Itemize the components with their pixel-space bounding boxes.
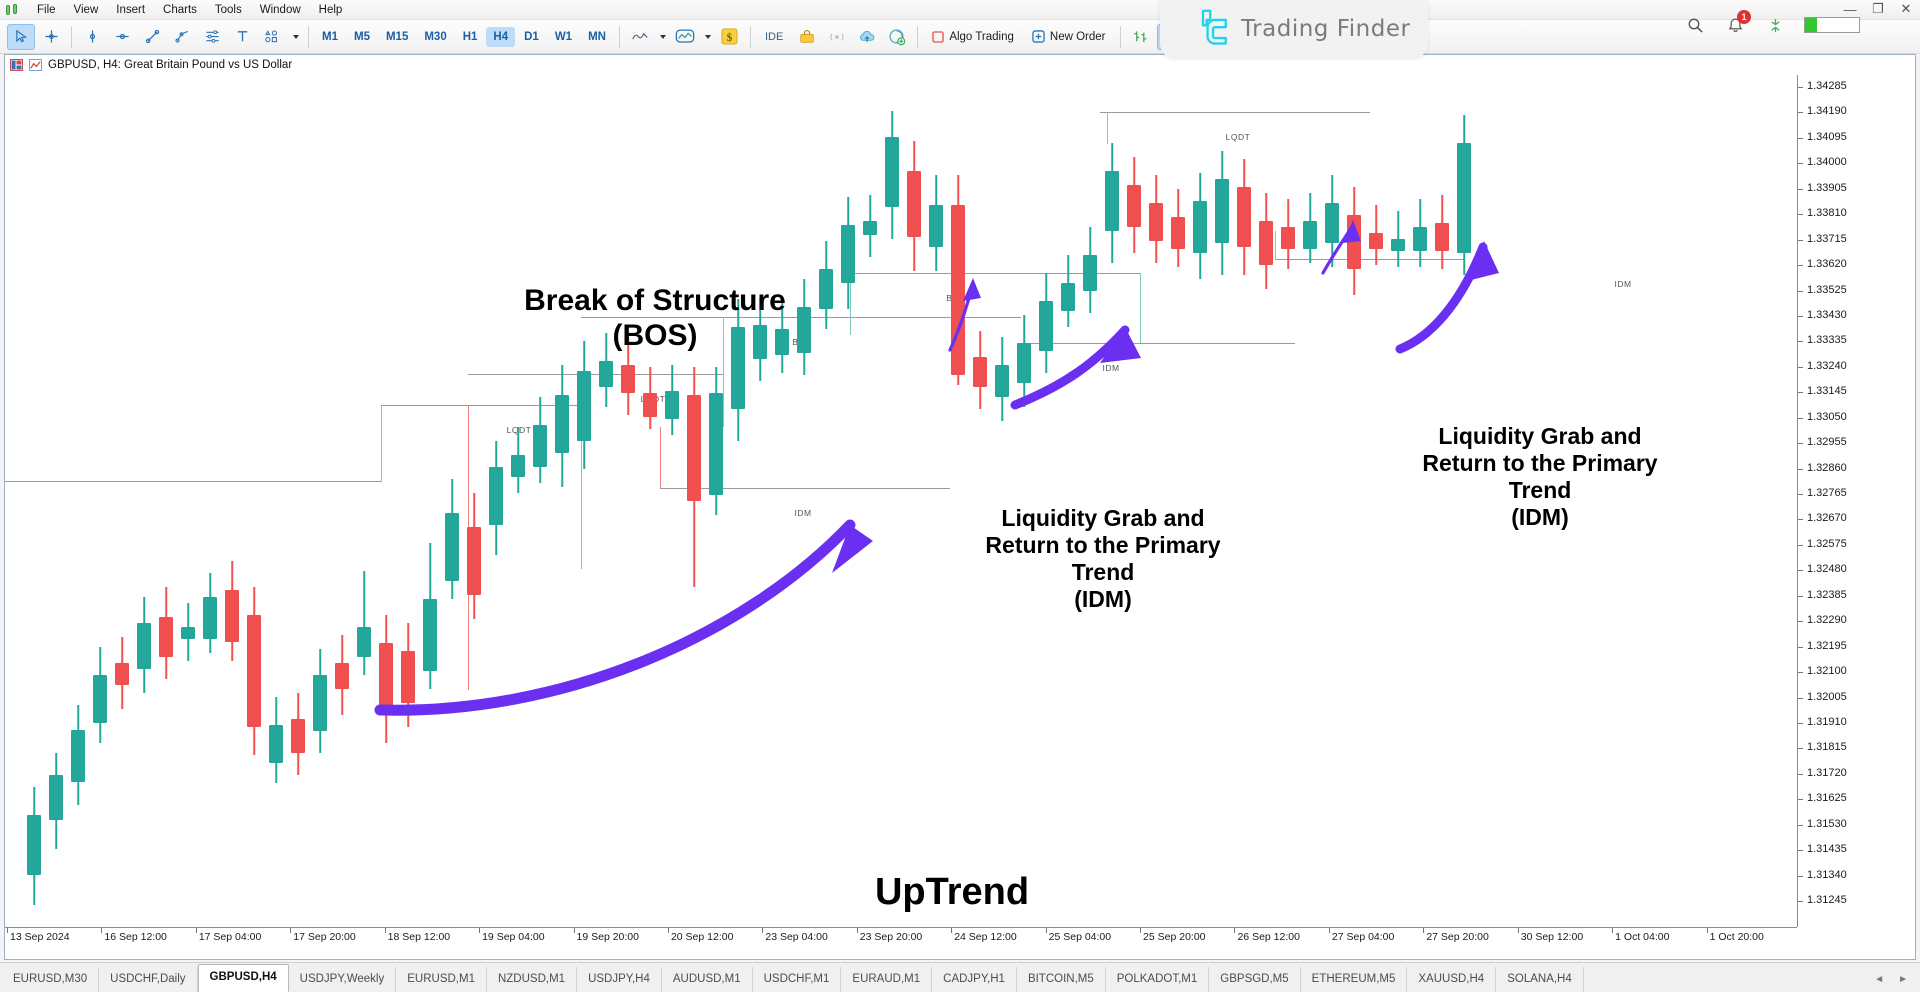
trendline-icon[interactable] [138, 24, 166, 50]
price-tick-label: 1.31625 [1807, 792, 1847, 804]
cpu-meter [1804, 17, 1860, 33]
time-tick-label: 25 Sep 20:00 [1143, 931, 1205, 943]
vertical-line-icon[interactable] [78, 24, 106, 50]
candle-body [291, 719, 305, 753]
tab-nav-prev[interactable]: ◄ [1874, 974, 1884, 985]
crosshair-icon[interactable] [37, 24, 65, 50]
price-tick-label: 1.32100 [1807, 665, 1847, 677]
candle-body [511, 455, 525, 477]
candlestick [357, 75, 371, 927]
candlestick [841, 75, 855, 927]
chart-tab-gbpusd-h4[interactable]: GBPUSD,H4 [198, 964, 289, 992]
chart-tab-eurusd-m30[interactable]: EURUSD,M30 [2, 967, 99, 992]
stop-square-icon [932, 31, 944, 43]
candle-body [1457, 143, 1471, 253]
timeframe-d1[interactable]: D1 [517, 27, 546, 47]
algo-trading-label: Algo Trading [949, 31, 1014, 43]
structure-vline [660, 427, 661, 488]
price-tick-label: 1.33525 [1807, 284, 1847, 296]
candle-body [379, 643, 393, 707]
candlestick [555, 75, 569, 927]
candle-body [819, 269, 833, 309]
candlestick [643, 75, 657, 927]
candlestick [291, 75, 305, 927]
line-chart-icon[interactable] [626, 24, 654, 50]
candle-body [1413, 227, 1427, 251]
price-tick-label: 1.31435 [1807, 843, 1847, 855]
menu-window[interactable]: Window [251, 0, 310, 20]
candlestick [1391, 75, 1405, 927]
candlestick [1149, 75, 1163, 927]
candlestick [533, 75, 547, 927]
candlestick [1215, 75, 1229, 927]
annotation-line: Return to the Primary [1422, 450, 1657, 477]
candle-body [1083, 255, 1097, 291]
candle-body [423, 599, 437, 671]
candle-body [599, 361, 613, 387]
price-tick-label: 1.33335 [1807, 334, 1847, 346]
price-tick-label: 1.32195 [1807, 640, 1847, 652]
arrow-cursor-icon[interactable] [7, 24, 35, 50]
trading-finder-logo-icon [1194, 9, 1232, 49]
candlestick [1017, 75, 1031, 927]
chart-tab-cadjpy-h1[interactable]: CADJPY,H1 [932, 967, 1017, 992]
timeframe-mn[interactable]: MN [581, 27, 613, 47]
chart-tab-eurusd-m1[interactable]: EURUSD,M1 [396, 967, 487, 992]
candlestick [335, 75, 349, 927]
candle-body [1325, 203, 1339, 243]
candle-body [203, 597, 217, 639]
price-tick-label: 1.31910 [1807, 716, 1847, 728]
candlestick [951, 75, 965, 927]
candlestick [225, 75, 239, 927]
candlestick [489, 75, 503, 927]
candlestick [929, 75, 943, 927]
candlestick [665, 75, 679, 927]
candlestick [27, 75, 41, 927]
timeframe-m15[interactable]: M15 [379, 27, 415, 47]
network-status-icon[interactable] [1764, 14, 1786, 36]
candle-body [313, 675, 327, 731]
candlestick [1303, 75, 1317, 927]
time-tick-label: 1 Oct 04:00 [1615, 931, 1669, 943]
chart-tab-usdchf-m1[interactable]: USDCHF,M1 [753, 967, 842, 992]
chart-tab-ethereum-m5[interactable]: ETHEREUM,M5 [1301, 967, 1408, 992]
indicators-icon[interactable] [671, 24, 699, 50]
candlestick [49, 75, 63, 927]
bell-icon[interactable]: 1 [1724, 14, 1746, 36]
price-tick-label: 1.32765 [1807, 487, 1847, 499]
time-tick-label: 20 Sep 12:00 [671, 931, 733, 943]
price-tick-label: 1.31530 [1807, 818, 1847, 830]
candlestick [819, 75, 833, 927]
chart-title-bar: GBPUSD, H4: Great Britain Pound vs US Do… [5, 55, 1915, 75]
time-tick-label: 16 Sep 12:00 [104, 931, 166, 943]
candle-body [93, 675, 107, 723]
horizontal-line-icon[interactable] [108, 24, 136, 50]
candle-body [1369, 233, 1383, 249]
candlestick [1237, 75, 1251, 927]
timeframe-m1[interactable]: M1 [315, 27, 345, 47]
candle-body [577, 371, 591, 441]
candle-body [1039, 301, 1053, 351]
uptrend-annotation: UpTrend [875, 870, 1029, 915]
time-tick-label: 19 Sep 04:00 [482, 931, 544, 943]
candlestick [621, 75, 635, 927]
timeframe-h1[interactable]: H1 [456, 27, 485, 47]
time-tick-label: 19 Sep 20:00 [577, 931, 639, 943]
candle-body [1259, 221, 1273, 265]
candle-body [533, 425, 547, 467]
toolbar-divider [1120, 26, 1121, 48]
time-tick-label: 25 Sep 04:00 [1049, 931, 1111, 943]
menu-file[interactable]: File [28, 0, 65, 20]
price-tick-label: 1.34095 [1807, 131, 1847, 143]
time-tick-label: 30 Sep 12:00 [1521, 931, 1583, 943]
briefcase-icon[interactable] [793, 24, 821, 50]
candlestick [423, 75, 437, 927]
indicators-dropdown-arrow[interactable] [701, 24, 714, 50]
new-order-button[interactable]: New Order [1025, 27, 1113, 46]
candle-body [995, 365, 1009, 397]
timeframe-m30[interactable]: M30 [417, 27, 453, 47]
tab-nav-next[interactable]: ► [1898, 974, 1908, 985]
chart-tab-xauusd-h4[interactable]: XAUUSD,H4 [1407, 967, 1496, 992]
candle-body [1149, 203, 1163, 241]
price-tick-label: 1.31815 [1807, 741, 1847, 753]
annotation-line: (IDM) [985, 586, 1220, 613]
candle-body [929, 205, 943, 247]
candle-body [445, 513, 459, 581]
candlestick [1171, 75, 1185, 927]
candlestick [269, 75, 283, 927]
chart-tab-usdjpy-h4[interactable]: USDJPY,H4 [577, 967, 662, 992]
structure-marker-label: IDM [1611, 279, 1634, 289]
annotation-line: Return to the Primary [985, 532, 1220, 559]
new-order-label: New Order [1050, 31, 1106, 43]
line-chart-dropdown-arrow[interactable] [656, 24, 669, 50]
candle-body [709, 393, 723, 495]
candlestick [137, 75, 151, 927]
price-tick-label: 1.33715 [1807, 233, 1847, 245]
candle-body [885, 137, 899, 207]
price-tick-label: 1.33620 [1807, 258, 1847, 270]
price-tick-label: 1.34000 [1807, 156, 1847, 168]
candlestick [181, 75, 195, 927]
candlestick [203, 75, 217, 927]
chevron-down-icon [705, 35, 711, 39]
candlestick [159, 75, 173, 927]
candle-body [1171, 217, 1185, 249]
idm-annotation-1: Liquidity Grab andReturn to the PrimaryT… [985, 505, 1220, 614]
candlestick [71, 75, 85, 927]
chart-tab-nzdusd-m1[interactable]: NZDUSD,M1 [487, 967, 577, 992]
candle-body [1061, 283, 1075, 311]
price-tick-label: 1.33240 [1807, 360, 1847, 372]
chart-tab-euraud-m1[interactable]: EURAUD,M1 [841, 967, 932, 992]
equidistant-channel-icon[interactable] [198, 24, 226, 50]
price-tick-label: 1.32385 [1807, 589, 1847, 601]
dollar-icon[interactable]: $ [716, 24, 744, 50]
candle-body [863, 221, 877, 235]
shapes-icon[interactable] [258, 24, 286, 50]
candlestick [1259, 75, 1273, 927]
annotation-line: Trend [985, 559, 1220, 586]
price-tick-label: 1.31720 [1807, 767, 1847, 779]
candlestick [379, 75, 393, 927]
candle-body [247, 615, 261, 727]
price-tick-label: 1.32005 [1807, 691, 1847, 703]
timeframe-m5[interactable]: M5 [347, 27, 377, 47]
candlestick [511, 75, 525, 927]
candlestick [577, 75, 591, 927]
chart-tab-usdjpy-weekly[interactable]: USDJPY,Weekly [289, 967, 397, 992]
candlestick [731, 75, 745, 927]
time-tick-label: 23 Sep 20:00 [860, 931, 922, 943]
search-icon[interactable] [1684, 14, 1706, 36]
menu-bar: File View Insert Charts Tools Window Hel… [0, 0, 1920, 20]
menu-view[interactable]: View [65, 0, 108, 20]
candle-body [49, 775, 63, 820]
candle-body [665, 391, 679, 419]
candlestick [247, 75, 261, 927]
candle-body [401, 651, 415, 703]
chart-plot-area[interactable]: LQDTLQDTBOSIDMBOSIDMLQDTIDM [5, 75, 1797, 927]
candlestick [445, 75, 459, 927]
toolbar-divider [71, 26, 72, 48]
candlestick [907, 75, 921, 927]
candlestick [1083, 75, 1097, 927]
chart-window[interactable]: GBPUSD, H4: Great Britain Pound vs US Do… [4, 54, 1916, 960]
menu-insert[interactable]: Insert [107, 0, 154, 20]
candlestick [1061, 75, 1075, 927]
ide-label: IDE [765, 31, 783, 43]
new-order-icon [1032, 30, 1045, 43]
polyline-icon[interactable] [168, 24, 196, 50]
toolbar-divider [308, 26, 309, 48]
candle-body [1215, 179, 1229, 243]
metatrader-logo-icon [4, 3, 22, 17]
trading-finder-label: Trading Finder [1241, 16, 1410, 42]
bos-annotation: Break of Structure(BOS) [524, 283, 786, 354]
chevron-down-icon [293, 35, 299, 39]
menu-help[interactable]: Help [310, 0, 352, 20]
candlestick [863, 75, 877, 927]
candlestick [753, 75, 767, 927]
candlestick [467, 75, 481, 927]
price-tick-label: 1.31340 [1807, 869, 1847, 881]
annotation-line: Liquidity Grab and [1422, 423, 1657, 450]
annotation-line: (BOS) [524, 318, 786, 353]
time-tick-label: 13 Sep 2024 [10, 931, 70, 943]
candlestick [401, 75, 415, 927]
price-tick-label: 1.32670 [1807, 512, 1847, 524]
candlestick [775, 75, 789, 927]
candle-body [1237, 187, 1251, 247]
candlestick [1369, 75, 1383, 927]
price-tick-label: 1.34285 [1807, 80, 1847, 92]
candlestick [797, 75, 811, 927]
mt5-application-window: File View Insert Charts Tools Window Hel… [0, 0, 1920, 992]
candlestick [687, 75, 701, 927]
chart-tab-strip: EURUSD,M30USDCHF,DailyGBPUSD,H4USDJPY,We… [0, 962, 1920, 992]
price-tick-label: 1.33050 [1807, 411, 1847, 423]
tester-icon[interactable] [883, 24, 911, 50]
candle-body [841, 225, 855, 283]
chart-tab-solana-h4[interactable]: SOLANA,H4 [1496, 967, 1584, 992]
menu-tools[interactable]: Tools [206, 0, 251, 20]
right-status-tools: 1 [1684, 14, 1860, 36]
ide-button[interactable]: IDE [758, 28, 790, 46]
price-tick-label: 1.33430 [1807, 309, 1847, 321]
close-button[interactable]: ✕ [1898, 2, 1914, 16]
annotation-line: Trend [1422, 477, 1657, 504]
candle-body [797, 307, 811, 353]
time-tick-label: 27 Sep 04:00 [1332, 931, 1394, 943]
candle-body [159, 617, 173, 657]
price-tick-label: 1.32575 [1807, 538, 1847, 550]
window-controls: — ❐ ✕ [1842, 2, 1914, 16]
candlestick [885, 75, 899, 927]
timeframe-w1[interactable]: W1 [548, 27, 579, 47]
candle-body [973, 357, 987, 387]
price-tick-label: 1.31245 [1807, 894, 1847, 906]
price-tick-label: 1.32290 [1807, 614, 1847, 626]
price-tick-label: 1.34190 [1807, 105, 1847, 117]
price-tick-label: 1.32860 [1807, 462, 1847, 474]
time-tick-label: 1 Oct 20:00 [1710, 931, 1764, 943]
trading-finder-watermark: Trading Finder [1160, 0, 1428, 58]
text-icon[interactable] [228, 24, 256, 50]
candle-body [1017, 343, 1031, 383]
candle-body [621, 365, 635, 393]
shapes-dropdown-arrow[interactable] [288, 24, 302, 50]
candle-body [1347, 215, 1361, 269]
toolbar-divider [750, 26, 751, 48]
chart-tab-bitcoin-m5[interactable]: BITCOIN,M5 [1017, 967, 1106, 992]
candle-body [1105, 171, 1119, 231]
candle-body [1435, 223, 1449, 251]
chart-title-label: GBPUSD, H4: Great Britain Pound vs US Do… [48, 59, 292, 71]
candlestick [995, 75, 1009, 927]
minimize-button[interactable]: — [1842, 2, 1858, 16]
candle-body [687, 395, 701, 501]
candle-body [181, 627, 195, 639]
candle-body [335, 663, 349, 689]
candle-body [115, 663, 129, 685]
candlestick [115, 75, 129, 927]
candlestick [313, 75, 327, 927]
candle-body [1391, 239, 1405, 251]
candle-body [71, 730, 85, 782]
algo-trading-button[interactable]: Algo Trading [925, 28, 1021, 46]
candlestick [709, 75, 723, 927]
price-axis[interactable]: 1.342851.341901.340951.340001.339051.338… [1797, 75, 1915, 927]
annotation-line: UpTrend [875, 870, 1029, 915]
symbol-chart-icon [29, 59, 42, 71]
restore-button[interactable]: ❐ [1870, 2, 1886, 16]
candle-body [357, 627, 371, 657]
chart-tab-gbpsgd-m5[interactable]: GBPSGD,M5 [1209, 967, 1300, 992]
candlestick [1347, 75, 1361, 927]
chart-tab-polkadot-m1[interactable]: POLKADOT,M1 [1106, 967, 1210, 992]
candle-body [951, 205, 965, 375]
chevron-down-icon [660, 35, 666, 39]
notification-badge: 1 [1737, 10, 1751, 24]
idm-annotation-2: Liquidity Grab andReturn to the PrimaryT… [1422, 423, 1657, 532]
time-tick-label: 27 Sep 20:00 [1426, 931, 1488, 943]
time-tick-label: 23 Sep 04:00 [765, 931, 827, 943]
price-tick-label: 1.33905 [1807, 182, 1847, 194]
price-tick-label: 1.32480 [1807, 563, 1847, 575]
bar-chart-icon[interactable] [1127, 24, 1155, 50]
structure-line [468, 374, 723, 375]
candle-body [643, 393, 657, 417]
candlestick [1105, 75, 1119, 927]
candle-body [27, 815, 41, 875]
candle-body [907, 171, 921, 237]
candle-body [467, 527, 481, 595]
time-tick-label: 26 Sep 12:00 [1237, 931, 1299, 943]
chart-tab-audusd-m1[interactable]: AUDUSD,M1 [662, 967, 753, 992]
time-tick-label: 18 Sep 12:00 [388, 931, 450, 943]
candle-body [555, 395, 569, 453]
time-tick-label: 17 Sep 20:00 [293, 931, 355, 943]
candlestick [93, 75, 107, 927]
annotation-line: Liquidity Grab and [985, 505, 1220, 532]
candlestick [1281, 75, 1295, 927]
svg-text:$: $ [727, 32, 733, 44]
cloud-icon[interactable] [853, 24, 881, 50]
annotation-line: (IDM) [1422, 504, 1657, 531]
price-tick-label: 1.33810 [1807, 207, 1847, 219]
chart-window-icon [10, 59, 23, 71]
candle-body [225, 590, 239, 642]
candle-body [1281, 227, 1295, 249]
candle-body [1193, 201, 1207, 253]
toolbar-divider [619, 26, 620, 48]
candle-body [137, 623, 151, 669]
candle-wick [363, 571, 365, 675]
candlestick [1127, 75, 1141, 927]
annotation-line: Break of Structure [524, 283, 786, 318]
candlestick [973, 75, 987, 927]
candle-body [1303, 221, 1317, 249]
price-tick-label: 1.32955 [1807, 436, 1847, 448]
menu-charts[interactable]: Charts [154, 0, 206, 20]
structure-vline [1275, 231, 1276, 259]
main-toolbar: M1 M5 M15 M30 H1 H4 D1 W1 MN $ IDE [0, 20, 1920, 54]
candle-body [269, 725, 283, 763]
time-axis[interactable]: 13 Sep 202416 Sep 12:0017 Sep 04:0017 Se… [5, 927, 1797, 959]
tab-nav: ◄► [1874, 974, 1920, 992]
time-tick-label: 17 Sep 04:00 [199, 931, 261, 943]
candlestick [599, 75, 613, 927]
price-tick-label: 1.33145 [1807, 385, 1847, 397]
candlestick [1039, 75, 1053, 927]
timeframe-h4[interactable]: H4 [486, 27, 515, 47]
time-tick-label: 24 Sep 12:00 [954, 931, 1016, 943]
signal-icon[interactable] [823, 24, 851, 50]
candlestick [1193, 75, 1207, 927]
candlestick [1325, 75, 1339, 927]
candle-body [1127, 185, 1141, 227]
toolbar-divider [917, 26, 918, 48]
candle-body [489, 467, 503, 525]
chart-tab-usdchf-daily[interactable]: USDCHF,Daily [99, 967, 197, 992]
